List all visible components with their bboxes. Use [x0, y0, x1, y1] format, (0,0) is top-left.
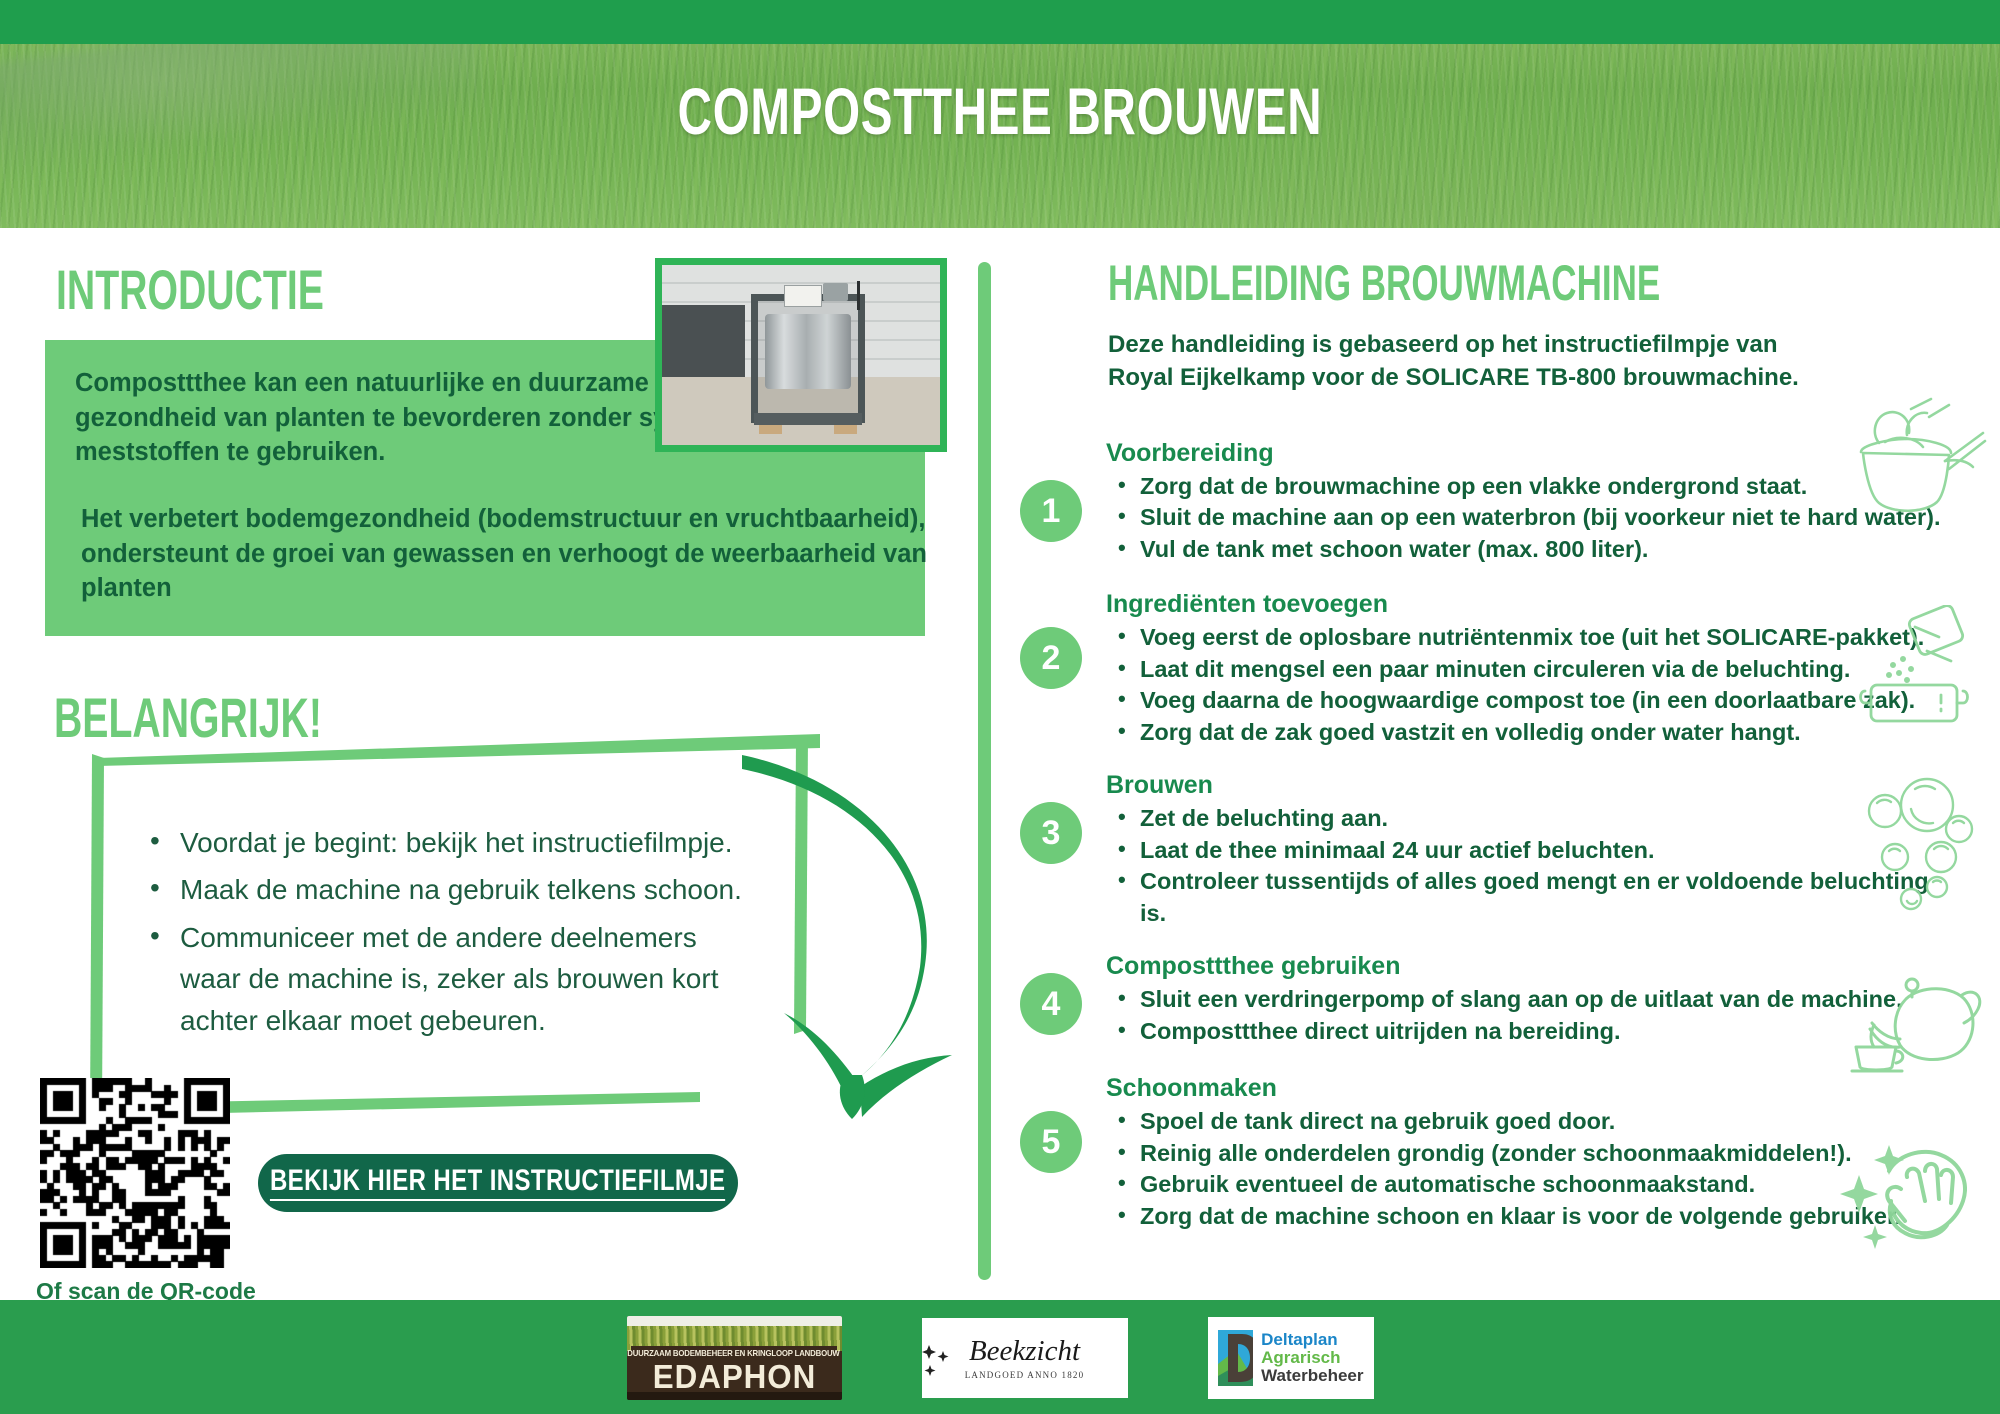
- step-number-badge: 5: [1020, 1111, 1082, 1173]
- list-item: Voordat je begint: bekijk het instructie…: [176, 822, 760, 863]
- step-bullet: Sluit de machine aan op een waterbron (b…: [1140, 502, 1950, 533]
- edaphon-logo-name: EDAPHON: [632, 1360, 836, 1393]
- step-number-badge: 2: [1020, 627, 1082, 689]
- step-title: Ingrediënten toevoegen: [1106, 589, 1950, 619]
- video-button-label: BEKIJK HIER HET INSTRUCTIEFILMJE: [270, 1166, 726, 1201]
- deltaplan-d-mark-icon: [1218, 1330, 1254, 1386]
- step-bullet: Controleer tussentijds of alles goed men…: [1140, 866, 1950, 929]
- step-item: 4 Composttthee gebruiken Sluit een verdr…: [1020, 951, 1950, 1047]
- step-bullet: Voeg daarna de hoogwaardige compost toe …: [1140, 685, 1950, 716]
- curved-arrow-icon: [740, 735, 970, 1125]
- step-bullet: Zorg dat de zak goed vastzit en volledig…: [1140, 717, 1950, 748]
- step-bullet: Spoel de tank direct na gebruik goed doo…: [1140, 1106, 1950, 1137]
- step-number-badge: 4: [1020, 973, 1082, 1035]
- step-bullet: Zorg dat de machine schoon en klaar is v…: [1140, 1201, 1950, 1232]
- beekzicht-logo: Beekzicht LANDGOED ANNO 1820: [922, 1318, 1128, 1398]
- cleaning-hand-icon: [1835, 1125, 1985, 1280]
- step-bullet: Laat de thee minimaal 24 uur actief belu…: [1140, 835, 1950, 866]
- step-bullet: Laat dit mengsel een paar minuten circul…: [1140, 654, 1950, 685]
- list-item: Communiceer met de andere deelnemers waa…: [176, 917, 760, 1041]
- deltaplan-line-2: Agrarisch: [1261, 1349, 1363, 1367]
- step-bullet: Sluit een verdringerpomp of slang aan op…: [1140, 984, 1950, 1015]
- page-title: COMPOSTTHEE BROUWEN: [280, 78, 1720, 144]
- beekzicht-tagline: LANDGOED ANNO 1820: [965, 1370, 1085, 1380]
- edaphon-logo: DUURZAAM BODEMBEHEER EN KRINGLOOP LANDBO…: [627, 1316, 842, 1400]
- brouwmachine-photo: [655, 258, 947, 452]
- introductie-heading: INTRODUCTIE: [56, 262, 324, 318]
- deltaplan-line-1: Deltaplan: [1261, 1331, 1363, 1349]
- introductie-paragraph-2: Het verbetert bodemgezondheid (bodemstru…: [75, 502, 961, 606]
- handleiding-intro-text: Deze handleiding is gebaseerd op het ins…: [1108, 328, 1828, 394]
- poster-header: COMPOSTTHEE BROUWEN: [0, 0, 2000, 228]
- step-bullet: Composttthee direct uitrijden na bereidi…: [1140, 1016, 1950, 1047]
- teapot-pouring-icon: [1850, 965, 1984, 1088]
- header-top-bar: [0, 0, 2000, 44]
- step-title: Voorbereiding: [1106, 438, 1950, 468]
- footer-logo-row: DUURZAAM BODEMBEHEER EN KRINGLOOP LANDBO…: [0, 1312, 2000, 1404]
- measuring-bowls-icon: [1845, 395, 1987, 525]
- step-bullet: Gebruik eventueel de automatische schoon…: [1140, 1169, 1950, 1200]
- list-item: Maak de machine na gebruik telkens schoo…: [176, 869, 760, 910]
- handleiding-heading: HANDLEIDING BROUWMACHINE: [1108, 258, 1660, 308]
- step-number-badge: 3: [1020, 802, 1082, 864]
- deltaplan-logo: Deltaplan Agrarisch Waterbeheer: [1208, 1317, 1374, 1399]
- sparkle-icon: [921, 1343, 955, 1383]
- step-item: 5 Schoonmaken Spoel de tank direct na ge…: [1020, 1073, 1950, 1232]
- step-title: Brouwen: [1106, 770, 1950, 800]
- pour-box-into-pot-icon: [1855, 605, 1981, 732]
- beekzicht-logo-name: Beekzicht: [965, 1337, 1085, 1366]
- column-divider: [978, 262, 991, 1280]
- step-item: 1 Voorbereiding Zorg dat de brouwmachine…: [1020, 438, 1950, 565]
- step-item: 2 Ingrediënten toevoegen Voeg eerst de o…: [1020, 589, 1950, 748]
- step-bullet: Zet de beluchting aan.: [1140, 803, 1950, 834]
- poster-root: COMPOSTTHEE BROUWEN INTRODUCTIE Compostt…: [0, 0, 2000, 1414]
- step-title: Composttthee gebruiken: [1106, 951, 1950, 981]
- watch-instruction-video-button[interactable]: BEKIJK HIER HET INSTRUCTIEFILMJE: [258, 1154, 738, 1212]
- step-bullet: Zorg dat de brouwmachine op een vlakke o…: [1140, 471, 1950, 502]
- step-bullet: Vul de tank met schoon water (max. 800 l…: [1140, 534, 1950, 565]
- steps-list: 1 Voorbereiding Zorg dat de brouwmachine…: [1020, 438, 1950, 1236]
- step-bullet: Voeg eerst de oplosbare nutriëntenmix to…: [1140, 622, 1950, 653]
- step-title: Schoonmaken: [1106, 1073, 1950, 1103]
- step-bullet: Reinig alle onderdelen grondig (zonder s…: [1140, 1138, 1950, 1169]
- bubbles-icon: [1855, 775, 1983, 918]
- deltaplan-line-3: Waterbeheer: [1261, 1367, 1363, 1385]
- step-item: 3 Brouwen Zet de beluchting aan. Laat de…: [1020, 770, 1950, 929]
- belangrijk-bullet-list: Voordat je begint: bekijk het instructie…: [140, 822, 760, 1047]
- qr-code[interactable]: [40, 1078, 230, 1268]
- step-number-badge: 1: [1020, 480, 1082, 542]
